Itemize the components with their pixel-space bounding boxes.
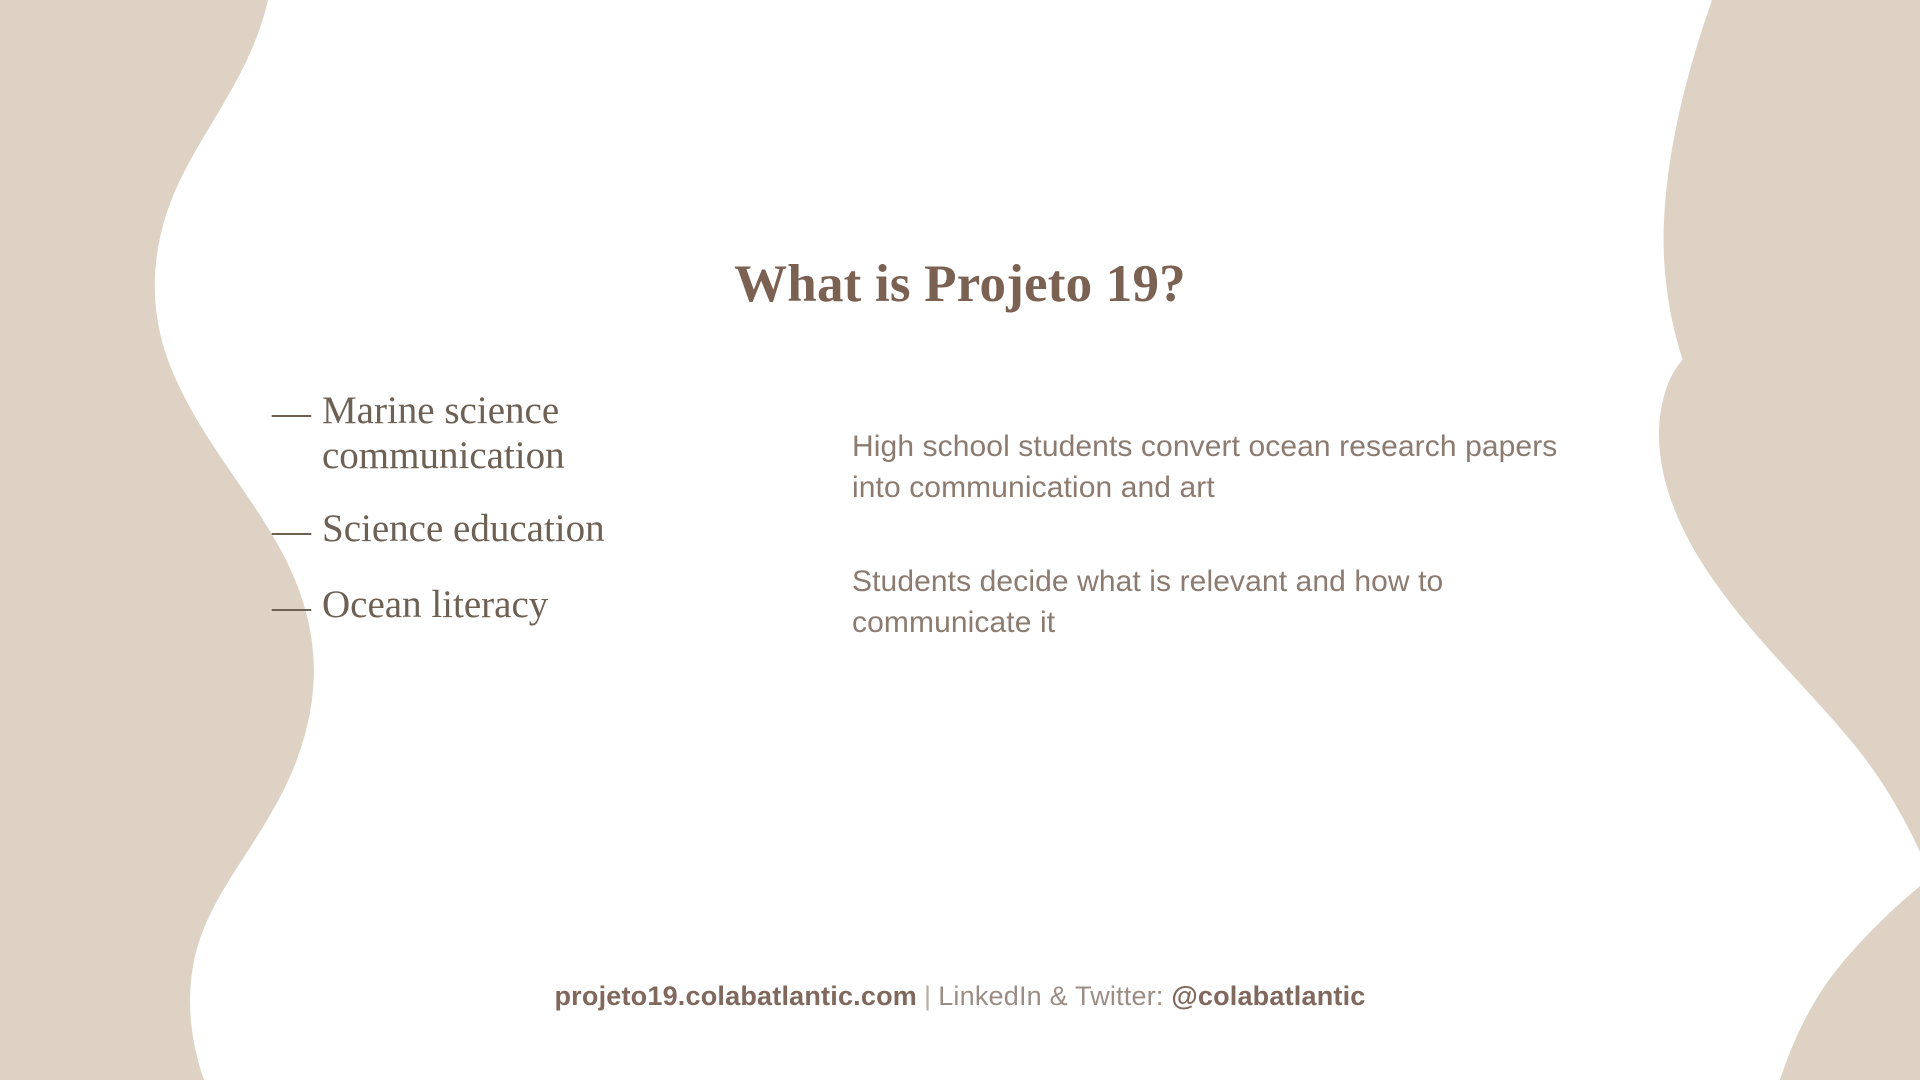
em-dash-icon: —: [272, 584, 312, 629]
description-paragraph: Students decide what is relevant and how…: [852, 561, 1612, 644]
em-dash-icon: —: [272, 508, 312, 553]
description-paragraph: High school students convert ocean resea…: [852, 426, 1612, 509]
page-title: What is Projeto 19?: [0, 254, 1920, 314]
right-wave-shape: [1659, 0, 1920, 1080]
list-item: — Marine science communication: [272, 388, 852, 478]
content-two-column-grid: — Marine science communication — Science…: [272, 388, 1652, 674]
list-item-label: Ocean literacy: [322, 582, 652, 627]
topic-bullet-list: — Marine science communication — Science…: [272, 388, 852, 629]
footer-website-link[interactable]: projeto19.colabatlantic.com: [554, 981, 917, 1011]
slide-canvas: What is Projeto 19? — Marine science com…: [0, 0, 1920, 1080]
list-item: — Science education: [272, 506, 852, 553]
list-item-label: Marine science communication: [322, 388, 652, 478]
footer-social-handle[interactable]: @colabatlantic: [1171, 981, 1365, 1011]
description-column: High school students convert ocean resea…: [852, 388, 1652, 674]
right-wave-upper-bulge: [1664, 0, 1920, 630]
footer-social-label: LinkedIn & Twitter:: [938, 981, 1163, 1011]
list-item-label: Science education: [322, 506, 652, 551]
list-item: — Ocean literacy: [272, 582, 852, 629]
footer-separator: |: [917, 981, 938, 1011]
slide-footer: projeto19.colabatlantic.com|LinkedIn & T…: [0, 981, 1920, 1012]
left-wave-shape: [0, 0, 314, 1080]
em-dash-icon: —: [272, 390, 312, 435]
